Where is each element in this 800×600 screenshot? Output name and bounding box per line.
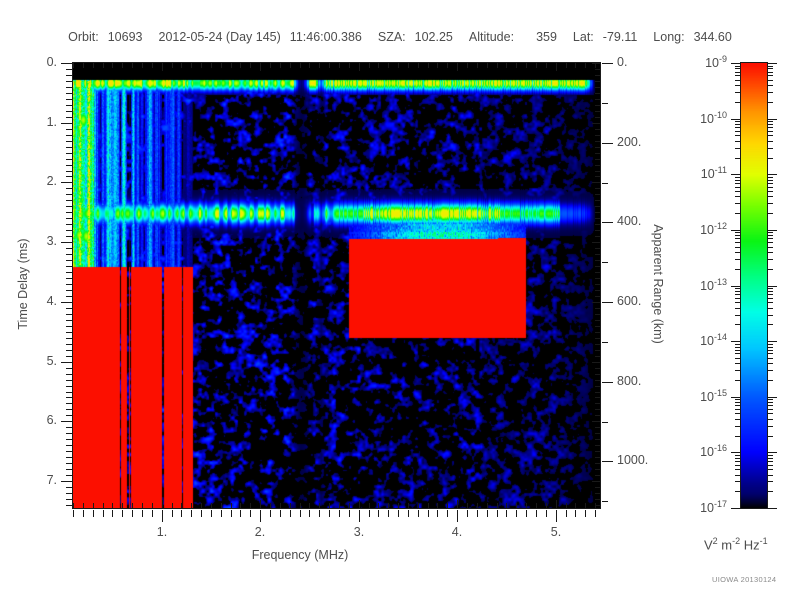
colorbar-tick-label: 10-15 bbox=[665, 388, 727, 404]
axis-tick bbox=[595, 230, 600, 231]
axis-tick bbox=[602, 422, 608, 423]
colorbar-tick-label: 10-9 bbox=[665, 54, 727, 70]
axis-tick bbox=[152, 503, 153, 508]
axis-tick bbox=[595, 350, 600, 351]
axis-tick bbox=[428, 503, 429, 508]
axis-tick bbox=[595, 386, 600, 387]
axis-tick bbox=[735, 302, 741, 303]
axis-tick bbox=[575, 503, 576, 508]
axis-tick bbox=[735, 469, 741, 470]
axis-tick bbox=[536, 63, 537, 68]
axis-tick bbox=[61, 182, 72, 183]
axis-tick bbox=[66, 194, 72, 195]
axis-tick bbox=[329, 503, 330, 508]
axis-tick bbox=[66, 392, 72, 393]
axis-tick bbox=[201, 510, 202, 517]
axis-tick bbox=[595, 505, 600, 506]
axis-tick bbox=[767, 455, 773, 456]
axis-tick bbox=[66, 451, 72, 452]
axis-tick bbox=[735, 405, 741, 406]
axis-tick bbox=[66, 296, 72, 297]
axis-tick bbox=[231, 503, 232, 508]
axis-tick bbox=[767, 324, 773, 325]
axis-tick bbox=[506, 63, 507, 68]
axis-tick bbox=[300, 510, 301, 517]
axis-tick bbox=[735, 183, 741, 184]
axis-tick bbox=[767, 491, 773, 492]
axis-tick bbox=[767, 465, 773, 466]
axis-tick bbox=[112, 63, 113, 68]
axis-tick bbox=[735, 232, 741, 233]
axis-tick bbox=[437, 510, 438, 517]
axis-tick bbox=[437, 63, 438, 68]
axis-tick bbox=[66, 457, 72, 458]
axis-tick bbox=[66, 260, 72, 261]
axis-tick bbox=[592, 302, 600, 303]
axis-tick bbox=[66, 176, 72, 177]
axis-tick bbox=[122, 510, 123, 517]
axis-tick bbox=[735, 187, 741, 188]
axis-tick bbox=[359, 63, 360, 71]
axis-tick bbox=[477, 503, 478, 508]
axis-tick bbox=[735, 196, 741, 197]
axis-tick bbox=[767, 127, 773, 128]
axis-tick bbox=[595, 338, 600, 339]
axis-tick bbox=[66, 350, 72, 351]
axis-tick bbox=[66, 320, 72, 321]
axis-tick bbox=[506, 503, 507, 508]
axis-tick bbox=[546, 510, 547, 517]
axis-tick bbox=[735, 213, 741, 214]
axis-tick bbox=[66, 75, 72, 76]
axis-tick bbox=[467, 63, 468, 68]
axis-tick bbox=[497, 503, 498, 508]
axis-tick bbox=[66, 427, 72, 428]
axis-tick bbox=[457, 510, 458, 522]
axis-tick bbox=[270, 63, 271, 68]
axis-tick bbox=[595, 493, 600, 494]
axis-tick bbox=[290, 63, 291, 68]
axis-tick bbox=[73, 63, 74, 68]
axis-tick-label: 3. bbox=[27, 234, 57, 248]
axis-tick bbox=[66, 499, 72, 500]
axis-tick bbox=[767, 405, 773, 406]
axis-tick bbox=[66, 117, 72, 118]
axis-tick bbox=[735, 455, 741, 456]
axis-tick bbox=[467, 503, 468, 508]
axis-tick bbox=[66, 308, 72, 309]
axis-tick bbox=[378, 63, 379, 68]
axis-tick bbox=[595, 296, 600, 297]
axis-tick bbox=[487, 503, 488, 508]
axis-tick-label: 4. bbox=[27, 294, 57, 308]
axis-tick bbox=[172, 503, 173, 508]
axis-tick bbox=[735, 399, 741, 400]
axis-tick bbox=[731, 119, 741, 120]
axis-tick bbox=[595, 463, 600, 464]
axis-tick bbox=[556, 63, 557, 71]
axis-tick bbox=[428, 510, 429, 517]
axis-tick bbox=[142, 503, 143, 508]
axis-tick bbox=[201, 63, 202, 68]
axis-tick bbox=[61, 302, 72, 303]
axis-tick bbox=[595, 224, 600, 225]
axis-tick bbox=[66, 487, 72, 488]
axis-tick bbox=[735, 85, 741, 86]
axis-tick bbox=[66, 380, 72, 381]
axis-tick bbox=[211, 63, 212, 68]
axis-tick bbox=[300, 503, 301, 508]
axis-tick bbox=[767, 235, 773, 236]
axis-tick bbox=[595, 433, 600, 434]
axis-tick bbox=[767, 291, 773, 292]
header-metadata: Orbit:106932012-05-24 (Day 145)11:46:00.… bbox=[0, 30, 800, 44]
axis-tick bbox=[191, 503, 192, 508]
axis-tick bbox=[735, 242, 741, 243]
axis-tick bbox=[595, 374, 600, 375]
axis-tick bbox=[66, 409, 72, 410]
colorbar-tick-label: 10-13 bbox=[665, 277, 727, 293]
axis-tick bbox=[767, 461, 773, 462]
axis-tick bbox=[735, 180, 741, 181]
axis-tick bbox=[595, 254, 600, 255]
axis-tick bbox=[290, 510, 291, 517]
axis-tick bbox=[349, 63, 350, 68]
axis-tick bbox=[93, 510, 94, 517]
axis-tick bbox=[487, 510, 488, 517]
axis-tick bbox=[595, 392, 600, 393]
axis-tick bbox=[595, 290, 600, 291]
axis-tick bbox=[66, 290, 72, 291]
axis-tick bbox=[585, 503, 586, 508]
axis-tick bbox=[526, 503, 527, 508]
axis-tick bbox=[536, 503, 537, 508]
axis-tick bbox=[66, 344, 72, 345]
axis-tick bbox=[516, 510, 517, 517]
axis-tick bbox=[585, 510, 586, 517]
axis-tick bbox=[66, 81, 72, 82]
axis-tick bbox=[595, 499, 600, 500]
axis-tick bbox=[61, 63, 72, 64]
latitude-value: -79.11 bbox=[603, 30, 638, 44]
axis-tick bbox=[447, 510, 448, 517]
axis-tick bbox=[595, 487, 600, 488]
axis-tick bbox=[735, 177, 741, 178]
axis-tick bbox=[767, 72, 773, 73]
axis-tick bbox=[735, 259, 741, 260]
axis-tick bbox=[339, 510, 340, 517]
colorbar-tick-label: 10-17 bbox=[665, 499, 727, 515]
axis-tick bbox=[260, 500, 261, 508]
axis-tick bbox=[735, 235, 741, 236]
axis-tick bbox=[408, 510, 409, 517]
axis-tick bbox=[767, 298, 773, 299]
axis-tick bbox=[61, 362, 72, 363]
axis-tick bbox=[602, 63, 613, 64]
axis-tick bbox=[735, 358, 741, 359]
axis-tick bbox=[595, 206, 600, 207]
axis-tick bbox=[735, 252, 741, 253]
credit-label: UIOWA 20130124 bbox=[712, 575, 776, 584]
colorbar-tick-label: 10-16 bbox=[665, 443, 727, 459]
axis-tick bbox=[378, 510, 379, 517]
axis-tick bbox=[767, 469, 773, 470]
axis-tick bbox=[595, 176, 600, 177]
axis-tick bbox=[767, 187, 773, 188]
axis-tick bbox=[181, 63, 182, 68]
y-axis-title: Time Delay (ms) bbox=[16, 184, 30, 384]
longitude-value: 344.60 bbox=[694, 30, 732, 44]
axis-tick bbox=[66, 111, 72, 112]
axis-tick bbox=[731, 230, 741, 231]
axis-tick bbox=[260, 510, 261, 522]
axis-tick bbox=[66, 206, 72, 207]
axis-tick bbox=[767, 121, 773, 122]
axis-tick bbox=[767, 458, 773, 459]
axis-tick bbox=[735, 269, 741, 270]
axis-tick bbox=[408, 63, 409, 68]
axis-tick bbox=[575, 510, 576, 517]
axis-tick bbox=[595, 212, 600, 213]
axis-tick bbox=[735, 461, 741, 462]
axis-tick bbox=[211, 510, 212, 517]
axis-tick bbox=[83, 63, 84, 68]
axis-tick bbox=[309, 510, 310, 517]
axis-tick bbox=[66, 433, 72, 434]
axis-tick bbox=[66, 188, 72, 189]
axis-tick bbox=[66, 159, 72, 160]
axis-tick bbox=[270, 510, 271, 517]
axis-tick bbox=[595, 153, 600, 154]
axis-tick bbox=[595, 75, 600, 76]
axis-tick bbox=[66, 236, 72, 237]
axis-tick bbox=[735, 481, 741, 482]
x-axis-title: Frequency (MHz) bbox=[0, 548, 600, 562]
axis-tick bbox=[103, 510, 104, 517]
axis-tick bbox=[767, 174, 777, 175]
axis-tick bbox=[61, 123, 72, 124]
axis-tick bbox=[73, 510, 74, 517]
axis-tick bbox=[767, 475, 773, 476]
axis-tick bbox=[66, 272, 72, 273]
axis-tick bbox=[595, 380, 600, 381]
axis-tick bbox=[595, 469, 600, 470]
colorbar-tick-label: 10-11 bbox=[665, 165, 727, 181]
axis-tick bbox=[735, 72, 741, 73]
axis-tick bbox=[546, 63, 547, 68]
axis-tick bbox=[300, 63, 301, 68]
axis-tick bbox=[66, 403, 72, 404]
colorbar-gradient bbox=[741, 63, 767, 508]
axis-tick bbox=[418, 503, 419, 508]
axis-tick bbox=[735, 363, 741, 364]
axis-tick bbox=[595, 135, 600, 136]
axis-tick bbox=[339, 503, 340, 508]
axis-tick bbox=[66, 505, 72, 506]
axis-tick bbox=[731, 397, 741, 398]
sza-value: 102.25 bbox=[415, 30, 453, 44]
axis-tick bbox=[66, 171, 72, 172]
axis-tick bbox=[556, 500, 557, 508]
axis-tick bbox=[767, 92, 773, 93]
axis-tick bbox=[526, 510, 527, 517]
axis-tick bbox=[735, 203, 741, 204]
axis-tick bbox=[221, 510, 222, 517]
axis-tick bbox=[595, 117, 600, 118]
axis-tick bbox=[767, 148, 773, 149]
axis-tick bbox=[592, 123, 600, 124]
axis-tick bbox=[83, 510, 84, 517]
axis-tick bbox=[767, 344, 773, 345]
axis-tick bbox=[447, 503, 448, 508]
axis-tick bbox=[66, 230, 72, 231]
axis-tick bbox=[221, 503, 222, 508]
axis-tick bbox=[595, 278, 600, 279]
axis-tick bbox=[290, 503, 291, 508]
axis-tick bbox=[735, 135, 741, 136]
axis-tick bbox=[516, 63, 517, 68]
axis-tick bbox=[66, 493, 72, 494]
axis-tick bbox=[735, 426, 741, 427]
axis-tick bbox=[231, 63, 232, 68]
axis-tick bbox=[735, 124, 741, 125]
axis-tick bbox=[735, 436, 741, 437]
axis-tick bbox=[767, 508, 777, 509]
axis-tick bbox=[767, 452, 777, 453]
y2-axis-title: Apparent Range (km) bbox=[651, 184, 665, 384]
axis-tick bbox=[735, 294, 741, 295]
axis-tick bbox=[595, 397, 600, 398]
axis-tick bbox=[592, 242, 600, 243]
axis-tick bbox=[767, 180, 773, 181]
axis-tick bbox=[309, 63, 310, 68]
axis-tick bbox=[602, 302, 613, 303]
ionogram-plot-area bbox=[73, 63, 600, 508]
longitude-label: Long: bbox=[653, 30, 684, 44]
axis-tick bbox=[735, 158, 741, 159]
axis-tick bbox=[566, 503, 567, 508]
axis-tick bbox=[162, 63, 163, 71]
orbit-value: 10693 bbox=[108, 30, 143, 44]
axis-tick bbox=[595, 200, 600, 201]
axis-tick bbox=[595, 81, 600, 82]
axis-tick bbox=[575, 63, 576, 68]
axis-tick bbox=[181, 503, 182, 508]
axis-tick bbox=[735, 419, 741, 420]
axis-tick bbox=[66, 141, 72, 142]
axis-tick bbox=[142, 510, 143, 517]
axis-tick bbox=[595, 188, 600, 189]
latitude-label: Lat: bbox=[573, 30, 594, 44]
axis-tick bbox=[767, 341, 777, 342]
axis-tick bbox=[66, 368, 72, 369]
axis-tick bbox=[595, 165, 600, 166]
axis-tick bbox=[595, 332, 600, 333]
axis-tick bbox=[595, 171, 600, 172]
axis-tick bbox=[497, 63, 498, 68]
axis-tick bbox=[595, 266, 600, 267]
axis-tick bbox=[735, 315, 741, 316]
axis-tick bbox=[408, 503, 409, 508]
axis-tick bbox=[61, 242, 72, 243]
axis-tick bbox=[112, 503, 113, 508]
axis-tick bbox=[66, 326, 72, 327]
axis-tick bbox=[250, 63, 251, 68]
axis-tick bbox=[735, 308, 741, 309]
sza-label: SZA: bbox=[378, 30, 406, 44]
axis-tick bbox=[767, 102, 773, 103]
axis-tick bbox=[602, 262, 608, 263]
axis-tick bbox=[595, 99, 600, 100]
axis-tick bbox=[595, 427, 600, 428]
observation-time: 11:46:00.386 bbox=[290, 30, 362, 44]
axis-tick bbox=[66, 93, 72, 94]
axis-tick bbox=[767, 350, 773, 351]
axis-tick-label: 6. bbox=[27, 413, 57, 427]
axis-tick bbox=[418, 63, 419, 68]
axis-tick bbox=[767, 183, 773, 184]
axis-tick bbox=[595, 93, 600, 94]
axis-tick bbox=[457, 63, 458, 71]
axis-tick bbox=[592, 182, 600, 183]
axis-tick bbox=[162, 510, 163, 522]
altitude-value: 359 bbox=[536, 30, 557, 44]
axis-tick bbox=[457, 500, 458, 508]
axis-tick bbox=[270, 503, 271, 508]
axis-tick bbox=[735, 80, 741, 81]
axis-tick bbox=[767, 238, 773, 239]
axis-tick bbox=[767, 80, 773, 81]
axis-tick bbox=[66, 415, 72, 416]
axis-tick-label: 600. bbox=[617, 294, 641, 308]
axis-tick-label: 2. bbox=[248, 525, 272, 539]
axis-tick bbox=[767, 397, 777, 398]
axis-tick bbox=[66, 445, 72, 446]
axis-tick bbox=[767, 347, 773, 348]
axis-tick bbox=[767, 252, 773, 253]
axis-tick bbox=[66, 469, 72, 470]
axis-tick bbox=[767, 135, 773, 136]
axis-tick bbox=[735, 131, 741, 132]
axis-tick bbox=[172, 510, 173, 517]
axis-tick bbox=[66, 338, 72, 339]
axis-tick bbox=[66, 254, 72, 255]
axis-tick bbox=[388, 63, 389, 68]
axis-tick bbox=[735, 370, 741, 371]
axis-tick bbox=[735, 324, 741, 325]
axis-tick bbox=[767, 269, 773, 270]
axis-tick bbox=[506, 510, 507, 517]
axis-tick bbox=[731, 286, 741, 287]
axis-tick bbox=[349, 510, 350, 517]
axis-tick bbox=[595, 510, 596, 517]
axis-tick bbox=[767, 232, 773, 233]
axis-tick bbox=[369, 63, 370, 68]
axis-tick bbox=[477, 63, 478, 68]
axis-tick-label: 0. bbox=[27, 55, 57, 69]
axis-tick bbox=[398, 63, 399, 68]
axis-tick bbox=[201, 503, 202, 508]
axis-tick bbox=[735, 298, 741, 299]
axis-tick bbox=[329, 63, 330, 68]
altitude-label: Altitude: bbox=[469, 30, 514, 44]
axis-tick bbox=[767, 230, 777, 231]
axis-tick-label: 2. bbox=[27, 174, 57, 188]
axis-tick bbox=[767, 158, 773, 159]
axis-tick bbox=[191, 510, 192, 517]
axis-tick bbox=[767, 286, 777, 287]
axis-tick bbox=[767, 259, 773, 260]
